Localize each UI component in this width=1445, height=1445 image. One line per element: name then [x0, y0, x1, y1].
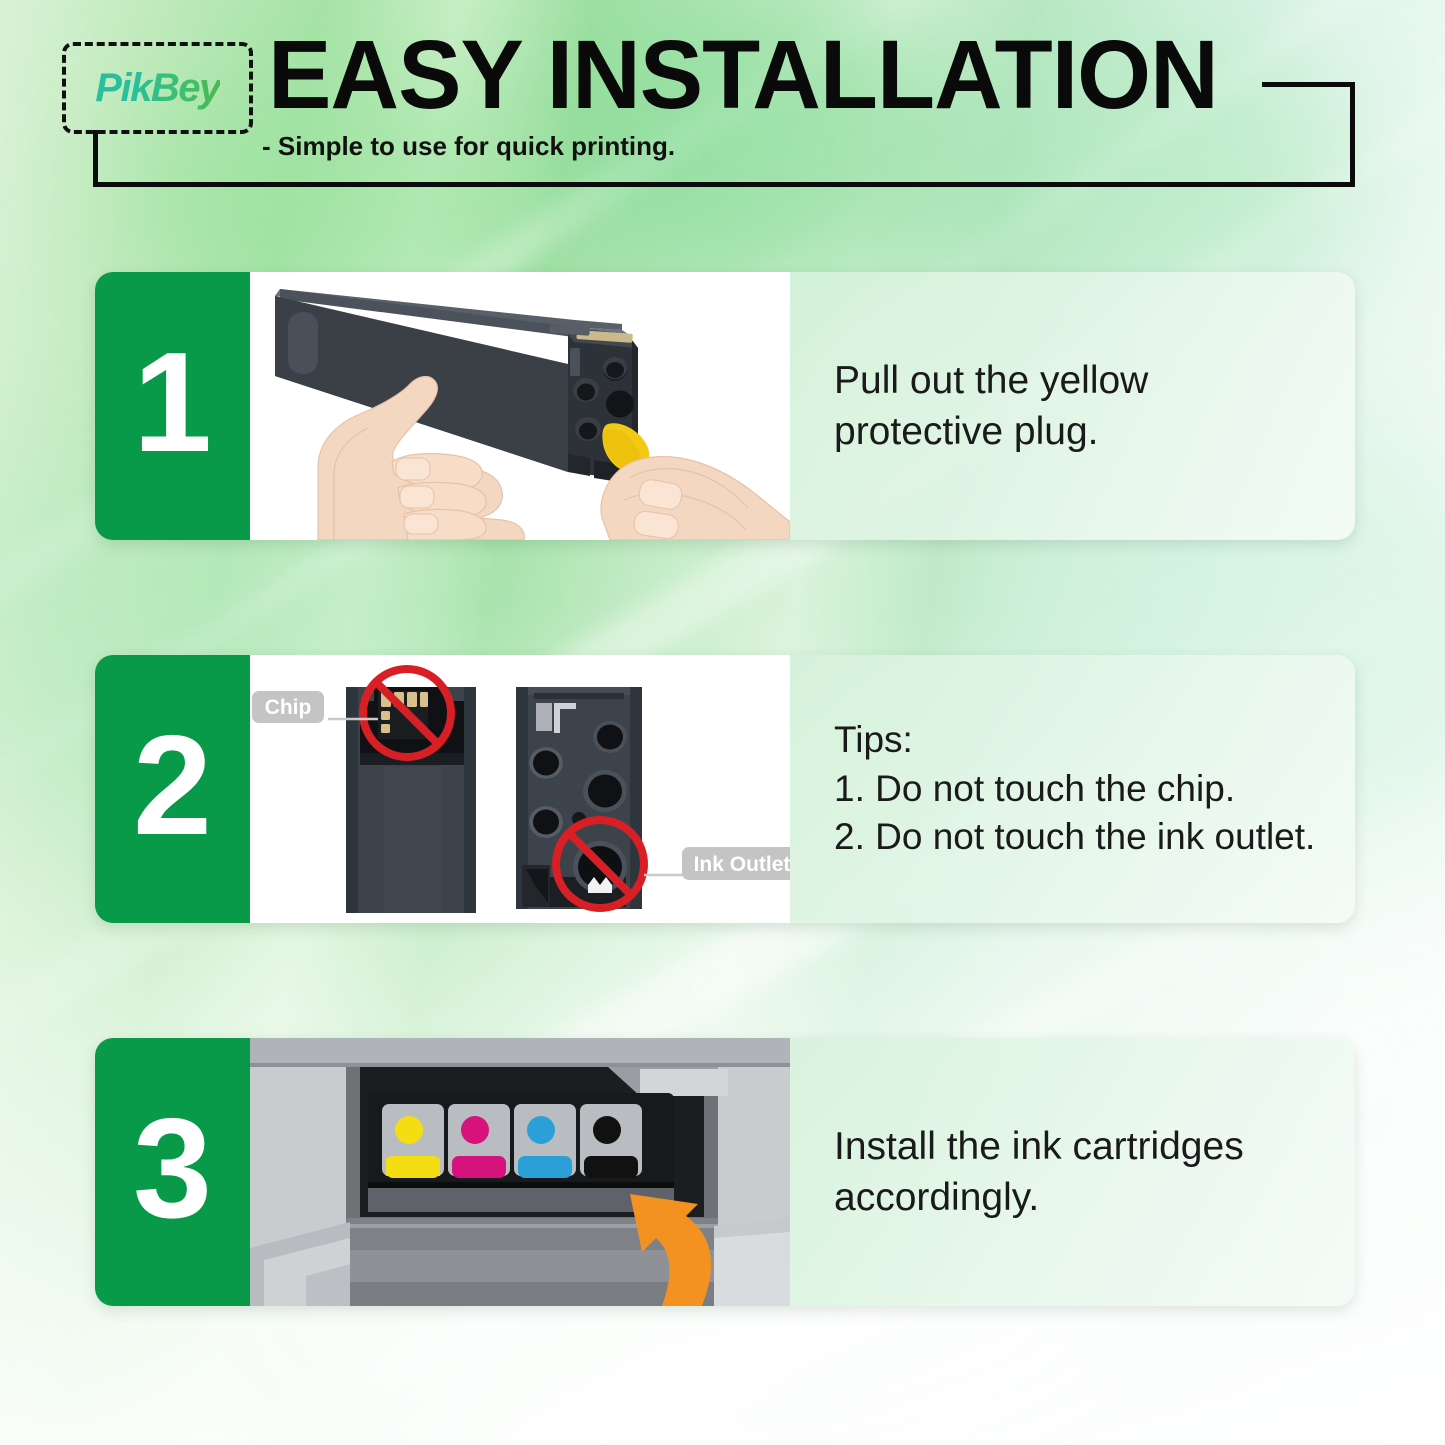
cartridge-slot-magenta [448, 1104, 510, 1178]
step-illustration-2: Chip [250, 655, 790, 923]
step-caption-2: Tips: 1. Do not touch the chip. 2. Do no… [790, 655, 1355, 923]
ink-outlet-label-tag: Ink Outlet [644, 847, 790, 880]
cartridge-outlet-view [516, 687, 642, 909]
cartridge-slot-cyan [514, 1104, 576, 1178]
step-illustration-3 [250, 1038, 790, 1306]
step-caption-2-line-2: 1. Do not touch the chip. [834, 765, 1329, 814]
header-frame-right [1350, 82, 1355, 187]
step-number-badge-1: 1 [95, 272, 250, 540]
cartridge-pull-plug-illustration [250, 272, 790, 540]
step-panel-3: 3 [95, 1038, 1355, 1306]
header: PikBey EASY INSTALLATION - Simple to use… [0, 0, 1445, 230]
cartridge-slot-black [580, 1104, 642, 1178]
header-frame-top-right [1262, 82, 1355, 87]
brand-logo-text: PikBey [95, 66, 219, 111]
step-illustration-1 [250, 272, 790, 540]
page-title: EASY INSTALLATION [268, 24, 1218, 126]
step-number-badge-2: 2 [95, 655, 250, 923]
chip-and-ink-outlet-illustration: Chip [250, 655, 790, 923]
step-caption-2-line-3: 2. Do not touch the ink outlet. [834, 813, 1329, 862]
step-panel-2: 2 [95, 655, 1355, 923]
step-caption-1-line-2: protective plug. [834, 406, 1329, 457]
right-hand-illustration [601, 456, 790, 540]
step-number-3: 3 [133, 1098, 212, 1240]
step-number-2: 2 [133, 715, 212, 857]
step-caption-2-line-1: Tips: [834, 716, 1329, 765]
step-caption-3-line-2: accordingly. [834, 1172, 1329, 1223]
step-panel-1: 1 [95, 272, 1355, 540]
chip-label-text: Chip [265, 696, 312, 719]
cartridge-slot-yellow [382, 1104, 444, 1178]
step-number-1: 1 [133, 332, 212, 474]
printer-cartridge-bay-illustration [250, 1038, 790, 1306]
step-caption-1-line-1: Pull out the yellow [834, 355, 1329, 406]
step-caption-1: Pull out the yellow protective plug. [790, 272, 1355, 540]
ink-outlet-label-text: Ink Outlet [694, 853, 790, 876]
page-subtitle: - Simple to use for quick printing. [262, 131, 675, 162]
brand-logo: PikBey [62, 42, 253, 134]
step-number-badge-3: 3 [95, 1038, 250, 1306]
header-frame-left [93, 130, 98, 187]
step-caption-3: Install the ink cartridges accordingly. [790, 1038, 1355, 1306]
step-caption-3-line-1: Install the ink cartridges [834, 1121, 1329, 1172]
header-frame-bottom [93, 182, 1355, 187]
